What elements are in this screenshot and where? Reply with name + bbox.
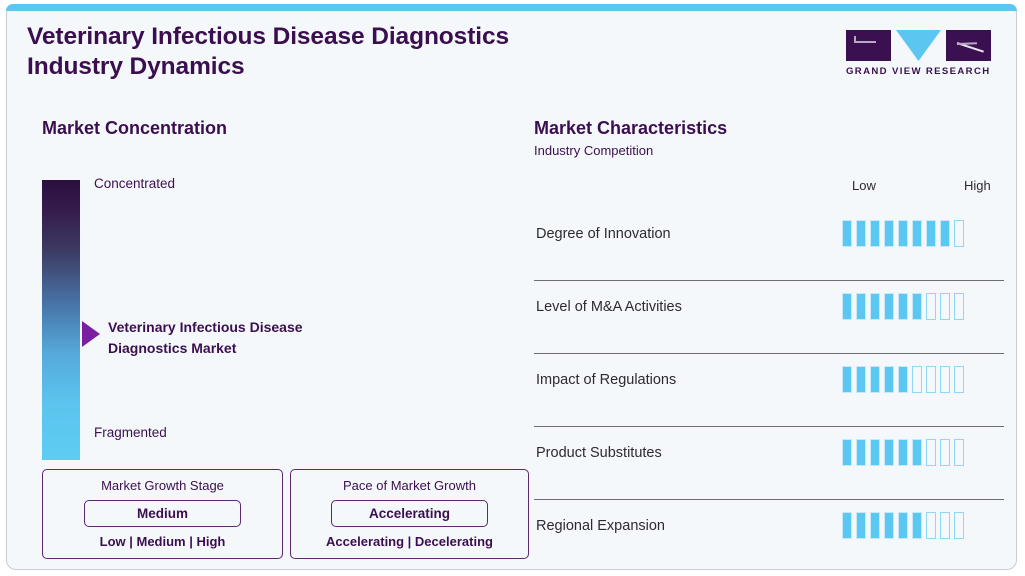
rating-segment-empty <box>954 293 964 320</box>
rating-segment-filled <box>842 439 852 466</box>
stat-options: Accelerating | Decelerating <box>303 534 516 549</box>
rating-segment-filled <box>898 439 908 466</box>
rating-segment-filled <box>884 293 894 320</box>
rating-segment-empty <box>926 439 936 466</box>
characteristic-label: Product Substitutes <box>536 445 662 461</box>
rating-segment-filled <box>856 366 866 393</box>
concentration-gradient-bar <box>42 180 80 460</box>
rating-segment-empty <box>940 439 950 466</box>
characteristic-rating-bars <box>842 439 964 466</box>
stat-title: Market Growth Stage <box>55 478 270 493</box>
rating-segment-empty <box>954 220 964 247</box>
stat-title: Pace of Market Growth <box>303 478 516 493</box>
characteristic-row: Degree of Innovation <box>534 208 1004 281</box>
market-characteristics-panel: Market Characteristics Industry Competit… <box>534 118 1004 158</box>
concentration-top-label: Concentrated <box>94 176 175 191</box>
logo-block-right-icon <box>946 30 991 61</box>
rating-segment-filled <box>912 439 922 466</box>
market-concentration-panel: Market Concentration Concentrated Fragme… <box>42 118 512 139</box>
characteristic-label: Regional Expansion <box>536 518 665 534</box>
marker-arrow-icon <box>82 321 100 347</box>
rating-segment-filled <box>856 439 866 466</box>
characteristic-rating-bars <box>842 512 964 539</box>
rating-segment-filled <box>898 512 908 539</box>
rating-segment-filled <box>870 293 880 320</box>
rating-segment-filled <box>870 512 880 539</box>
rating-segment-empty <box>940 366 950 393</box>
rating-segment-filled <box>842 293 852 320</box>
rating-segment-empty <box>926 366 936 393</box>
characteristic-row: Impact of Regulations <box>534 354 1004 427</box>
scale-labels: Low High <box>534 178 1004 196</box>
stat-value-badge: Medium <box>84 500 241 527</box>
characteristic-label: Impact of Regulations <box>536 372 676 388</box>
rating-segment-filled <box>870 366 880 393</box>
market-position-marker: Veterinary Infectious Disease Diagnostic… <box>82 321 100 347</box>
characteristics-rows: Degree of InnovationLevel of M&A Activit… <box>534 208 1004 570</box>
rating-segment-filled <box>940 220 950 247</box>
concentration-scale: Concentrated Fragmented Veterinary Infec… <box>42 180 522 470</box>
rating-segment-filled <box>842 512 852 539</box>
characteristic-row: Level of M&A Activities <box>534 281 1004 354</box>
accent-top-bar <box>6 4 1017 11</box>
stat-value-badge: Accelerating <box>331 500 488 527</box>
rating-segment-filled <box>898 220 908 247</box>
rating-segment-filled <box>898 293 908 320</box>
characteristic-row: Product Substitutes <box>534 427 1004 500</box>
characteristic-rating-bars <box>842 220 964 247</box>
rating-segment-empty <box>940 293 950 320</box>
rating-segment-empty <box>954 366 964 393</box>
characteristic-label: Level of M&A Activities <box>536 299 682 315</box>
rating-segment-empty <box>912 366 922 393</box>
rating-segment-filled <box>870 220 880 247</box>
rating-segment-filled <box>856 293 866 320</box>
characteristic-rating-bars <box>842 293 964 320</box>
market-concentration-heading: Market Concentration <box>42 118 512 139</box>
market-stat-boxes: Market Growth Stage Medium Low | Medium … <box>42 469 529 559</box>
concentration-bottom-label: Fragmented <box>94 425 167 440</box>
rating-segment-filled <box>842 366 852 393</box>
rating-segment-empty <box>954 512 964 539</box>
rating-segment-filled <box>926 220 936 247</box>
rating-segment-filled <box>884 439 894 466</box>
characteristic-rating-bars <box>842 366 964 393</box>
scale-low-label: Low <box>852 178 876 193</box>
characteristic-row: Regional Expansion <box>534 500 1004 570</box>
market-position-label: Veterinary Infectious Disease Diagnostic… <box>108 317 408 359</box>
rating-segment-filled <box>884 366 894 393</box>
rating-segment-filled <box>884 512 894 539</box>
infographic-card: Veterinary Infectious Disease Diagnostic… <box>6 4 1017 570</box>
rating-segment-filled <box>898 366 908 393</box>
rating-segment-empty <box>954 439 964 466</box>
rating-segment-filled <box>912 220 922 247</box>
scale-high-label: High <box>964 178 991 193</box>
logo-marks <box>846 30 992 61</box>
logo-wordmark: GRAND VIEW RESEARCH <box>846 66 992 77</box>
rating-segment-filled <box>856 512 866 539</box>
characteristic-label: Degree of Innovation <box>536 226 671 242</box>
rating-segment-filled <box>912 293 922 320</box>
stat-options: Low | Medium | High <box>55 534 270 549</box>
market-characteristics-subheading: Industry Competition <box>534 143 1004 158</box>
logo-triangle-icon <box>896 30 941 61</box>
rating-segment-filled <box>870 439 880 466</box>
market-characteristics-heading: Market Characteristics <box>534 118 1004 139</box>
rating-segment-filled <box>856 220 866 247</box>
rating-segment-empty <box>926 293 936 320</box>
stat-box-pace-of-market-growth: Pace of Market Growth Accelerating Accel… <box>290 469 529 559</box>
rating-segment-empty <box>940 512 950 539</box>
logo-block-left-icon <box>846 30 891 61</box>
rating-segment-empty <box>926 512 936 539</box>
brand-logo: GRAND VIEW RESEARCH <box>846 30 992 77</box>
rating-segment-filled <box>912 512 922 539</box>
rating-segment-filled <box>842 220 852 247</box>
stat-box-market-growth-stage: Market Growth Stage Medium Low | Medium … <box>42 469 283 559</box>
rating-segment-filled <box>884 220 894 247</box>
